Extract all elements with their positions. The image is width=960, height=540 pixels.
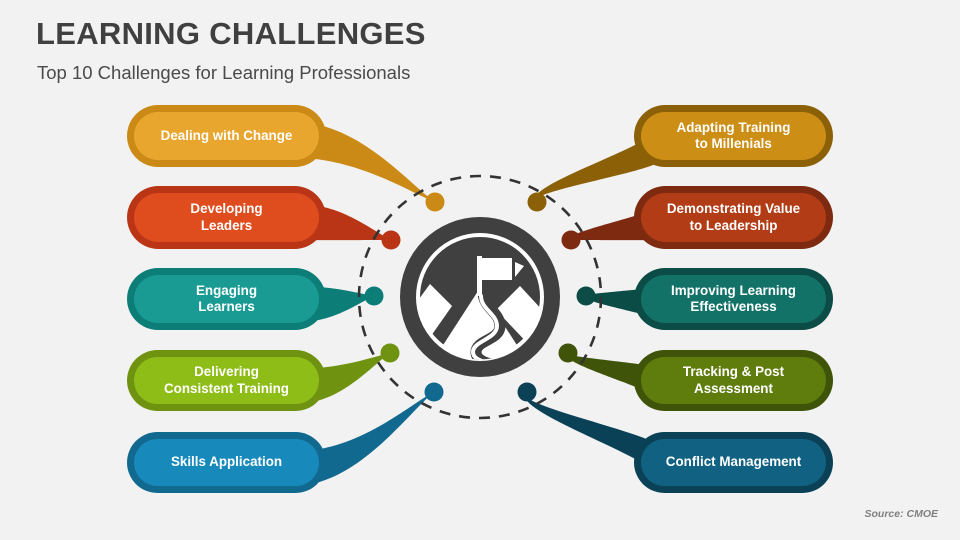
connector-dot-9 [559, 344, 578, 363]
node-pill-inner-8[interactable] [641, 275, 826, 323]
flag-banner [482, 258, 512, 280]
node-pill-inner-6[interactable] [641, 112, 826, 160]
source-credit: Source: CMOE [864, 508, 938, 520]
node-pill-inner-7[interactable] [641, 193, 826, 242]
connector-dot-4 [381, 344, 400, 363]
node-tail-5 [310, 392, 434, 484]
connector-dot-3 [365, 287, 384, 306]
node-pill-inner-9[interactable] [641, 357, 826, 404]
node-tail-1 [310, 124, 435, 202]
center-hub-icon [396, 217, 560, 377]
connector-dot-8 [577, 287, 596, 306]
flag-pole [477, 256, 482, 296]
node-pill-inner-4[interactable] [134, 357, 319, 404]
node-pill-inner-5[interactable] [134, 439, 319, 486]
connector-dot-10 [518, 383, 537, 402]
connector-dot-1 [426, 193, 445, 212]
connector-dot-7 [562, 231, 581, 250]
connector-dot-6 [528, 193, 547, 212]
connector-dot-5 [425, 383, 444, 402]
slide-canvas: LEARNING CHALLENGES Top 10 Challenges fo… [0, 0, 960, 540]
node-pill-inner-1[interactable] [134, 112, 319, 160]
connector-dot-2 [382, 231, 401, 250]
radial-diagram [0, 0, 960, 540]
node-pill-inner-3[interactable] [134, 275, 319, 323]
node-pill-inner-2[interactable] [134, 193, 319, 242]
node-pill-inner-10[interactable] [641, 439, 826, 486]
